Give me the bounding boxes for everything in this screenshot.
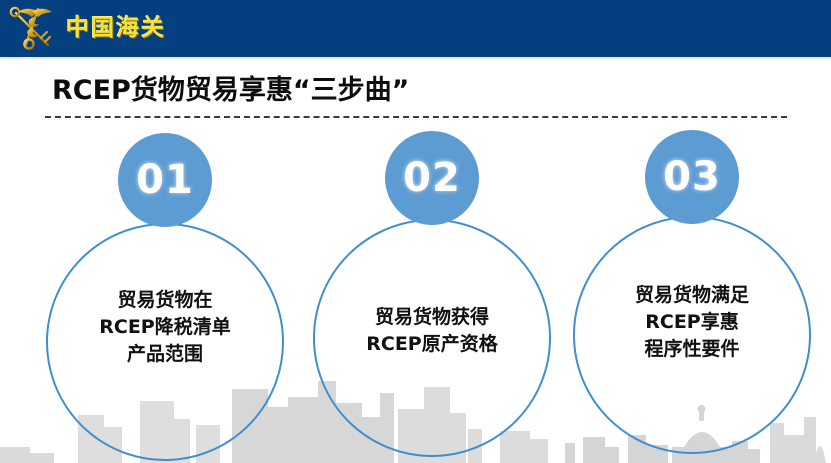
step-group-1: 01 贸易货物在 RCEP降税清单 产品范围 <box>35 0 295 463</box>
step-text-2: 贸易货物获得 RCEP原产资格 <box>313 304 551 358</box>
step-group-2: 02 贸易货物获得 RCEP原产资格 <box>302 0 562 463</box>
step-text-1: 贸易货物在 RCEP降税清单 产品范围 <box>46 287 284 368</box>
step-group-3: 03 贸易货物满足 RCEP享惠 程序性要件 <box>562 0 822 463</box>
step-number-1: 01 <box>136 160 194 200</box>
step-badge-1: 01 <box>118 133 212 227</box>
slide-canvas: 中国海关 RCEP货物贸易享惠“三步曲” 01 贸易货物在 RCEP降税清单 产… <box>0 0 831 463</box>
step-text-3: 贸易货物满足 RCEP享惠 程序性要件 <box>573 282 811 363</box>
step-number-2: 02 <box>403 158 461 198</box>
step-number-3: 03 <box>663 157 721 197</box>
step-badge-3: 03 <box>645 130 739 224</box>
step-badge-2: 02 <box>385 131 479 225</box>
